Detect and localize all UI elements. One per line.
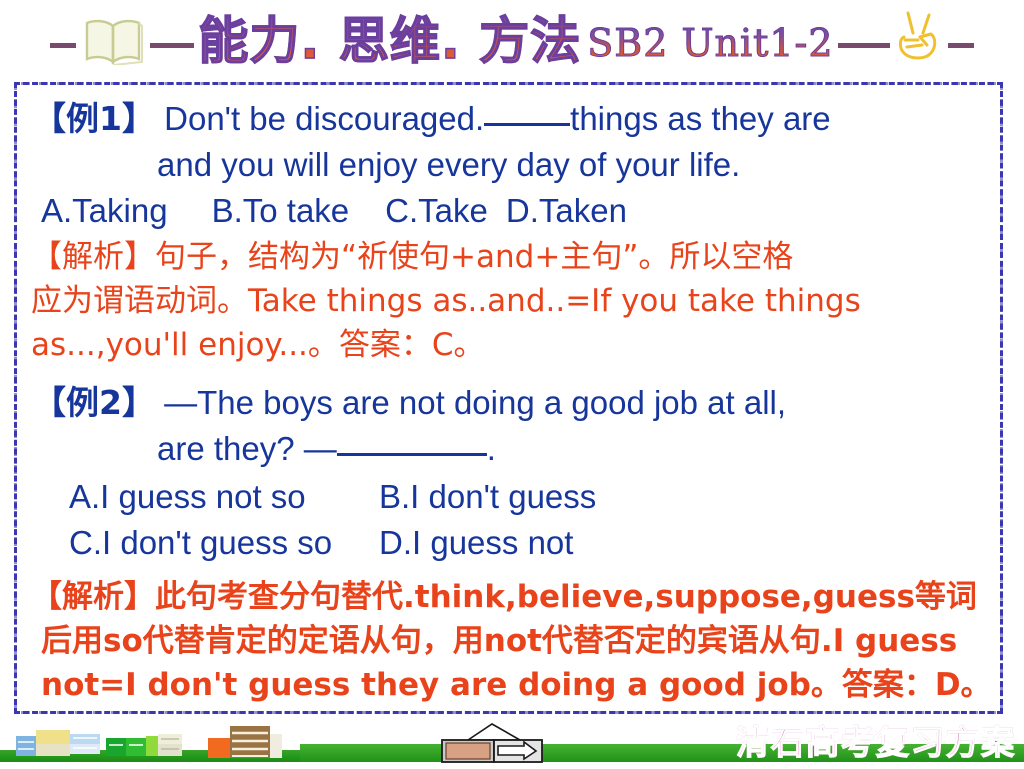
solution1-line1: 【解析】句子，结构为“祈使句+and+主句”。所以空格 — [31, 237, 793, 277]
example1-line1-before: Don't be discouraged. — [155, 100, 484, 137]
slide-title-english: SB2 Unit1-2 — [587, 21, 833, 65]
content-panel: 【例1】 Don't be discouraged.things as they… — [14, 82, 1003, 714]
header-dash-right — [948, 43, 974, 48]
example2-line1-after: —The boys are not doing a good job at al… — [155, 384, 786, 421]
example1-blank — [484, 123, 570, 126]
example2-line2-before: are they? — — [157, 430, 337, 467]
footer-brand-title: 清石高考复习方案 — [736, 716, 1016, 764]
header-dash-left — [50, 43, 76, 48]
solution1-line3: as...,you'll enjoy...。答案：C。 — [31, 325, 485, 365]
example2-option-d[interactable]: D.I guess not — [379, 524, 573, 561]
header-dash-mid-right — [838, 43, 890, 48]
header-dash-mid-left — [150, 43, 194, 48]
example2-line2: are they? —. — [157, 427, 496, 471]
example1-line1-after: things as they are — [570, 100, 831, 137]
example1-options: A.TakingB.To takeC.TakeD.Taken — [41, 189, 627, 233]
example1-line1: 【例1】 Don't be discouraged.things as they… — [33, 97, 831, 141]
slide-footer: 清石高考复习方案 — [0, 716, 1024, 768]
example1-option-a[interactable]: A.Taking — [41, 192, 168, 229]
example1-option-b[interactable]: B.To take — [212, 192, 350, 229]
example2-option-b[interactable]: B.I don't guess — [379, 478, 596, 515]
solution2-line1: 【解析】此句考查分句替代.think,believe,suppose,guess… — [31, 577, 977, 617]
tunnel-arrow-icon — [424, 720, 560, 769]
slide-header: 能力. 思维. 方法 SB2 Unit1-2 — [0, 0, 1024, 78]
green-building-icon — [106, 734, 182, 761]
example1-option-c[interactable]: C.Take — [385, 192, 488, 229]
example2-line2-after: . — [487, 430, 496, 467]
solution2-line2: 后用so代替肯定的定语从句，用not代替否定的宾语从句.I guess — [41, 621, 957, 661]
example2-line1: 【例2】 —The boys are not doing a good job … — [33, 381, 786, 425]
example2-options-row1: A.I guess not soB.I don't guess — [69, 475, 596, 519]
example1-line2: and you will enjoy every day of your lif… — [157, 143, 740, 187]
example2-options-row2: C.I don't guess soD.I guess not — [69, 521, 573, 565]
example2-tag: 【例2】 — [33, 383, 155, 422]
example2-option-a[interactable]: A.I guess not so — [69, 475, 379, 519]
blue-building-icon — [16, 730, 100, 761]
example2-option-c[interactable]: C.I don't guess so — [69, 521, 379, 565]
example1-tag: 【例1】 — [33, 99, 155, 138]
slide-title-chinese: 能力. 思维. 方法 — [198, 1, 581, 73]
open-book-icon — [82, 17, 144, 70]
solution1-line2: 应为谓语动词。Take things as..and..=If you take… — [31, 281, 861, 321]
solution2-line3: not=I don't guess they are doing a good … — [41, 665, 992, 705]
example2-blank — [337, 453, 487, 456]
victory-hand-icon — [896, 7, 942, 68]
example1-option-d[interactable]: D.Taken — [506, 192, 627, 229]
orange-building-icon — [208, 726, 282, 763]
